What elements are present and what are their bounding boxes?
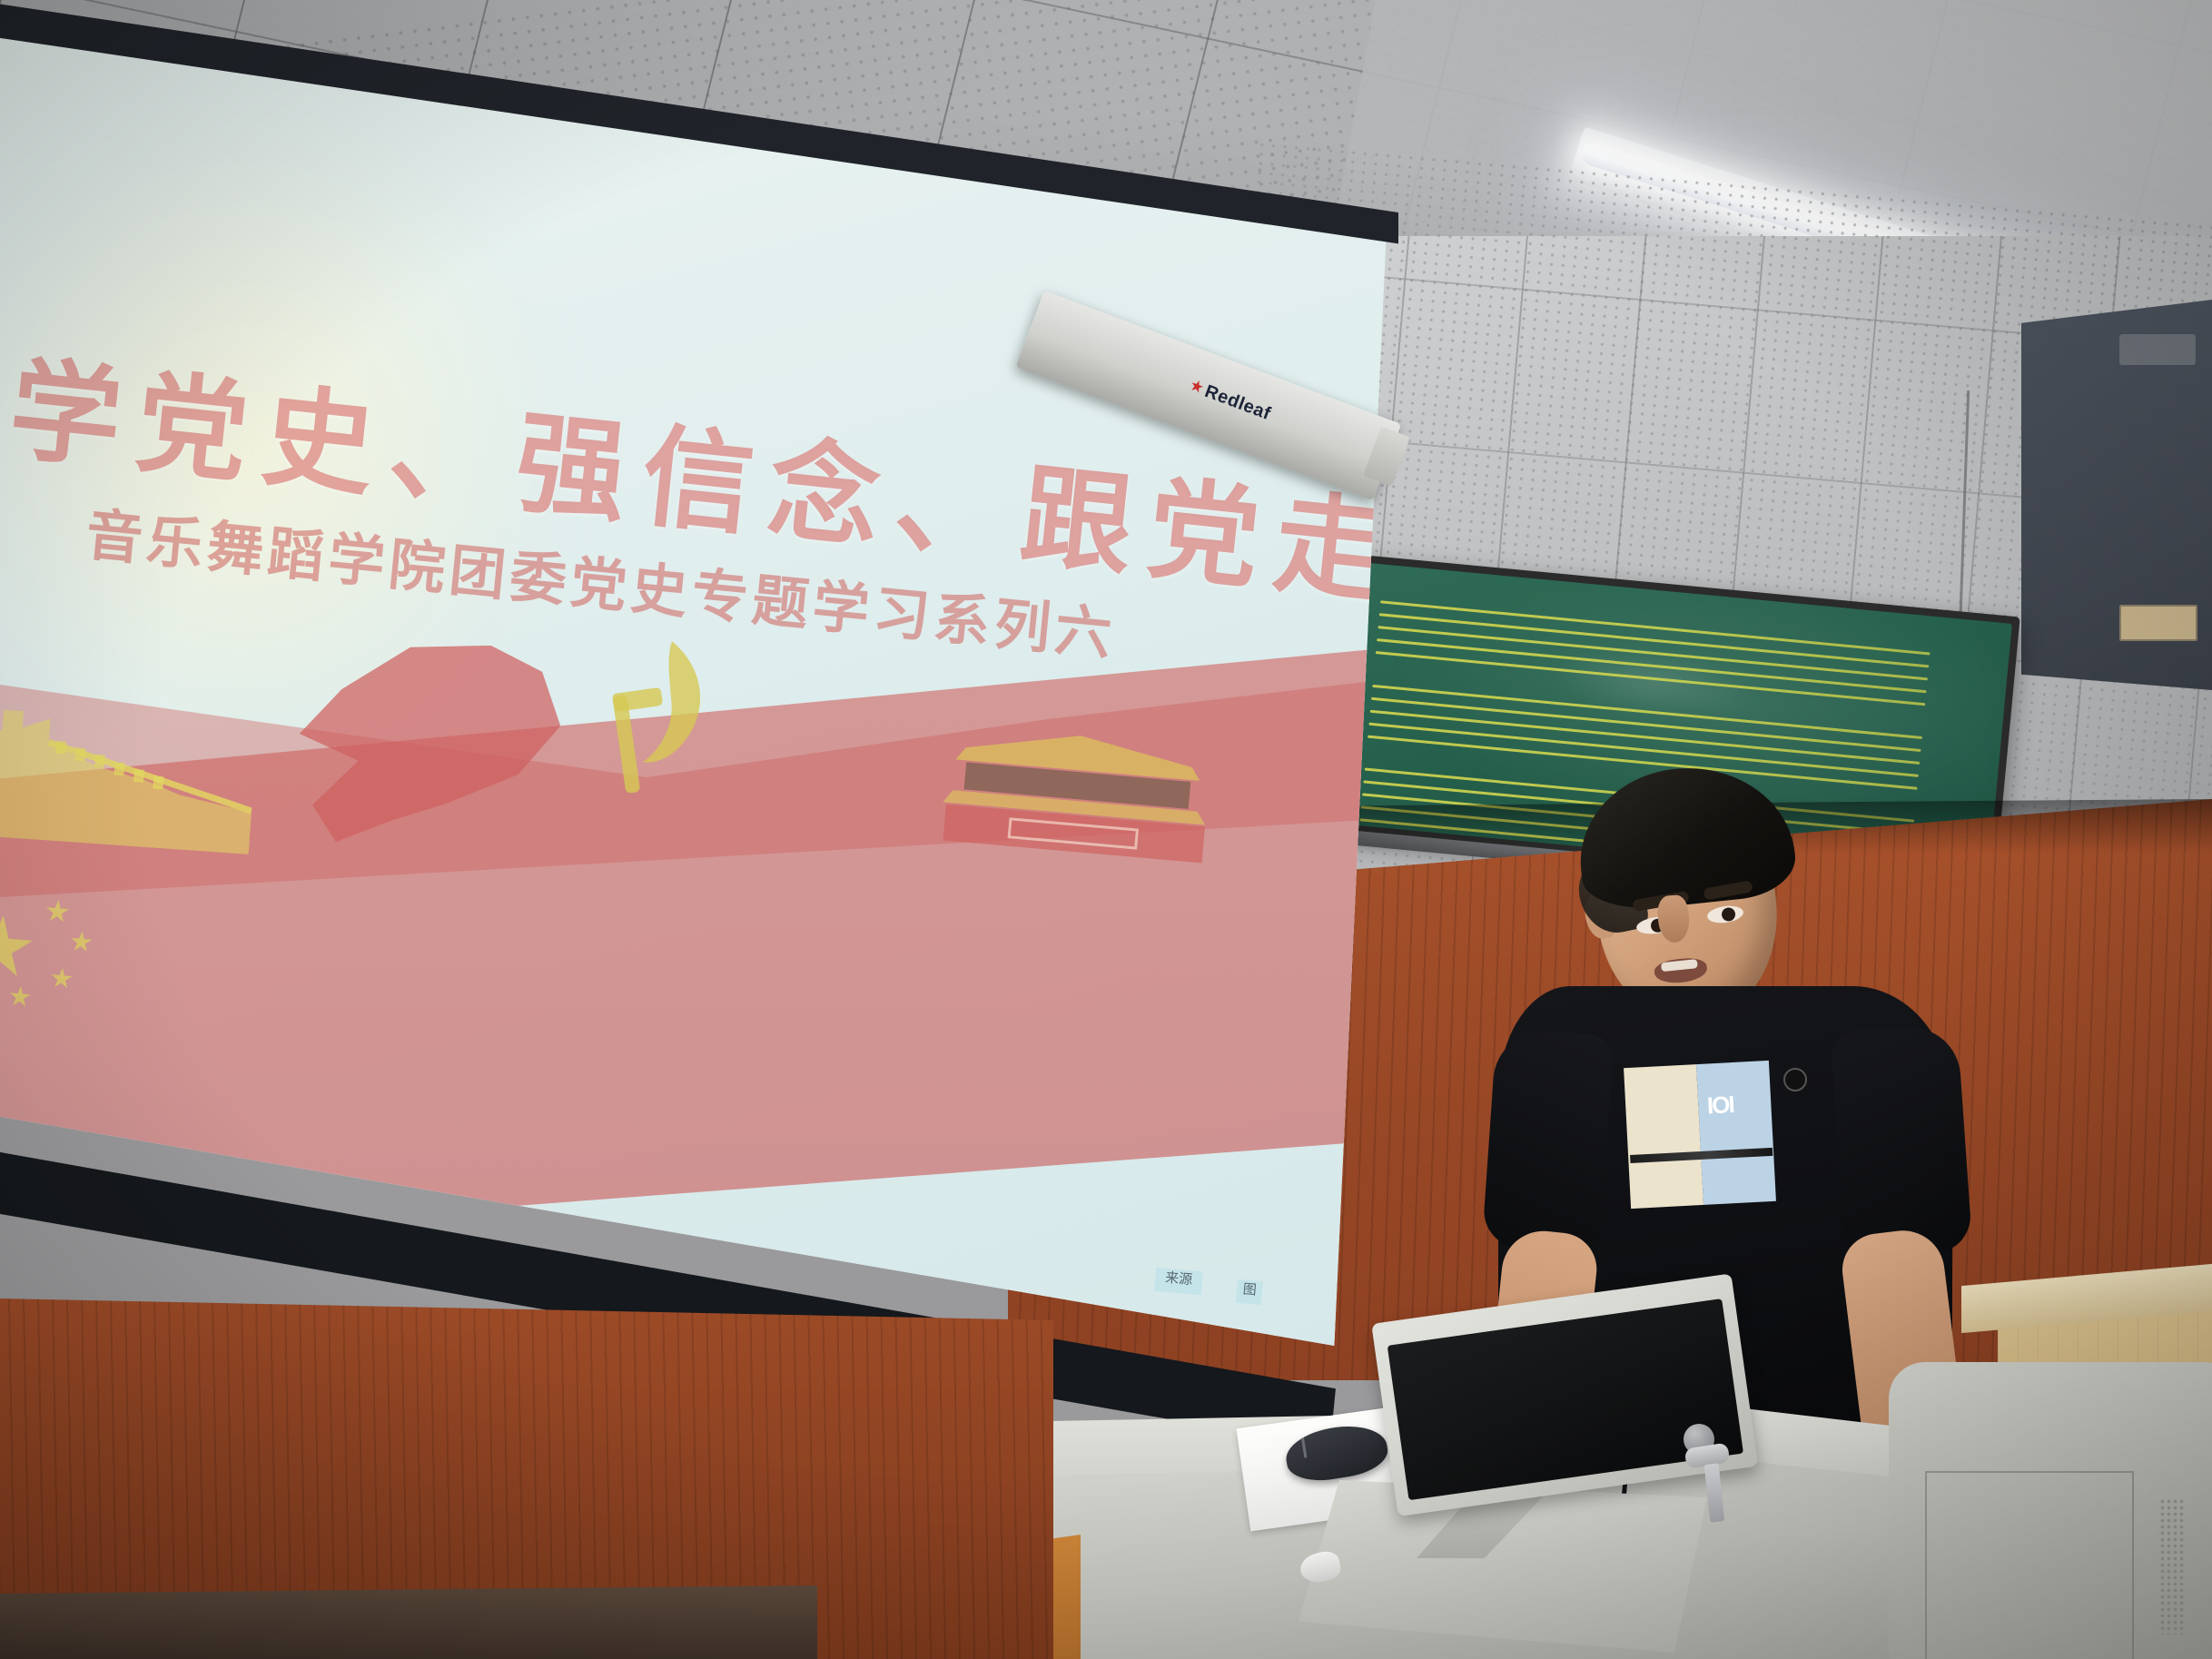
sleeve-right [1830,1023,1972,1259]
wall-sign [2119,605,2197,641]
music-staff-group-1 [1380,601,1930,653]
sleeve-left [1482,1028,1615,1253]
great-wall-icon [0,680,260,854]
photo-scene: 学党史、强信念、跟党走 音乐舞蹈学院团委党史专题学习系列六 来源 图 Redle… [0,0,2212,1659]
hammer-sickle-icon [553,618,746,835]
teeth [1661,959,1698,972]
tshirt-graphic-mark: IOI [1706,1091,1733,1120]
sleeve-badge [1783,1068,1807,1091]
redleaf-logo-icon [1190,379,1205,394]
slide-art-great-wall [0,680,260,854]
lectern-side-cabinet[interactable] [1889,1362,2212,1659]
tiananmen-icon [922,714,1231,866]
wall-speaker [2021,300,2212,690]
slide-tag-1: 来源 [1154,1268,1203,1295]
mouse-button-split [1301,1437,1307,1457]
slide-art-hammer-sickle-emblem [553,618,746,835]
tshirt-graphic: IOI [1624,1061,1776,1209]
tshirt-graphic-right-half [1696,1061,1776,1205]
speaker-bracket [2119,334,2196,365]
slide-tag-2: 图 [1236,1279,1263,1305]
pupil-right [1721,907,1736,923]
slide-art-tiananmen-gate [922,714,1231,866]
floor [0,1585,817,1659]
staff-line [1370,710,1921,765]
cabinet-vent [2159,1498,2185,1634]
screen-brand-label: Redleaf [1201,381,1273,425]
tshirt-graphic-left-half [1624,1064,1703,1209]
cabinet-door[interactable] [1925,1471,2134,1659]
